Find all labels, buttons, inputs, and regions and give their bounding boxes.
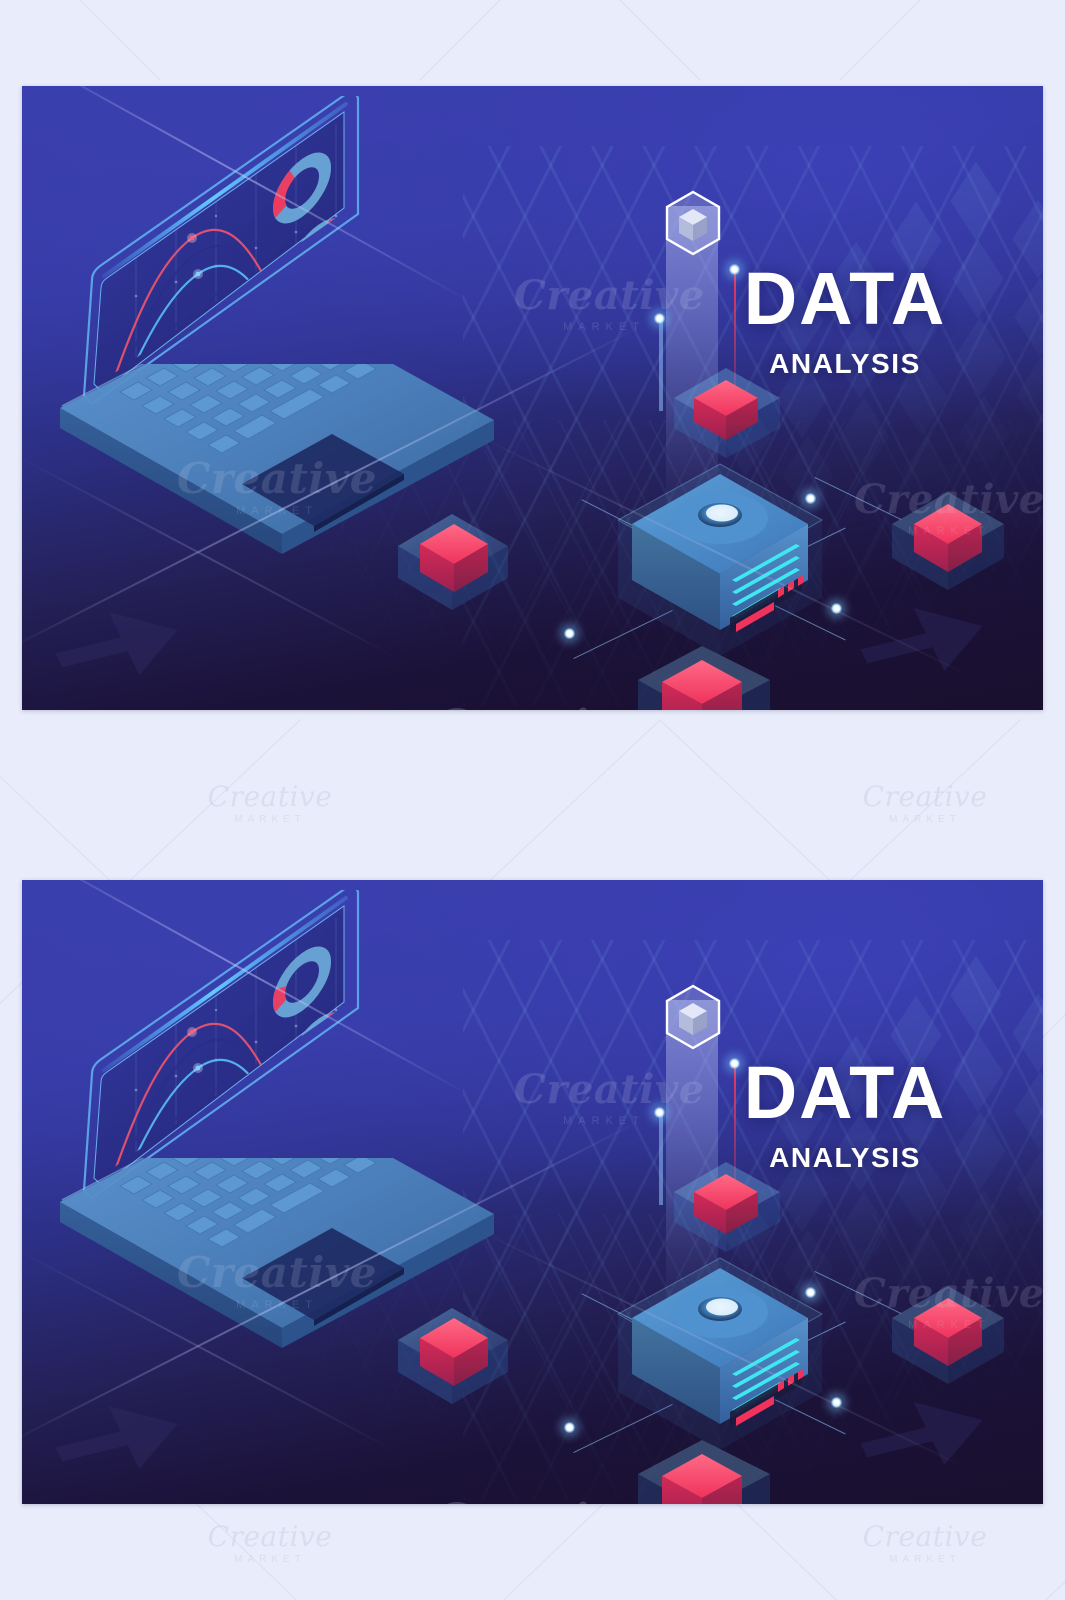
- hexagon-cube-beacon: [662, 983, 724, 1051]
- page-subtitle: ANALYSIS: [695, 1142, 995, 1174]
- page-watermark: Creative MARKET: [175, 780, 365, 825]
- data-cube: [388, 500, 518, 620]
- data-cube: [630, 1428, 780, 1504]
- page-watermark: Creative MARKET: [830, 1520, 1020, 1565]
- page-watermark: Creative MARKET: [175, 1520, 365, 1565]
- page-title: DATA: [695, 264, 995, 334]
- database-server-unit: [610, 1252, 830, 1452]
- page-root: Creative MARKET Creative MARKET Creative…: [0, 0, 1065, 1600]
- database-server-unit: [610, 458, 830, 658]
- connection-wire: [659, 1113, 663, 1205]
- page-subtitle: ANALYSIS: [695, 348, 995, 380]
- title-block: DATA ANALYSIS: [695, 264, 995, 380]
- data-cube: [884, 1276, 1014, 1394]
- illustration-panel: Creative MARKET Creative MARKET Creative…: [22, 86, 1043, 710]
- hexagon-cube-beacon: [662, 189, 724, 257]
- data-cube: [388, 1294, 518, 1414]
- data-cube: [630, 634, 780, 710]
- illustration-panel: Creative MARKET Creative MARKET Creative…: [22, 880, 1043, 1504]
- connection-node: [563, 1421, 576, 1434]
- connection-node: [653, 1106, 666, 1119]
- connection-wire: [659, 319, 663, 411]
- data-cube: [884, 482, 1014, 600]
- connection-node: [653, 312, 666, 325]
- page-title: DATA: [695, 1058, 995, 1128]
- title-block: DATA ANALYSIS: [695, 1058, 995, 1174]
- page-watermark: Creative MARKET: [830, 780, 1020, 825]
- connection-node: [563, 627, 576, 640]
